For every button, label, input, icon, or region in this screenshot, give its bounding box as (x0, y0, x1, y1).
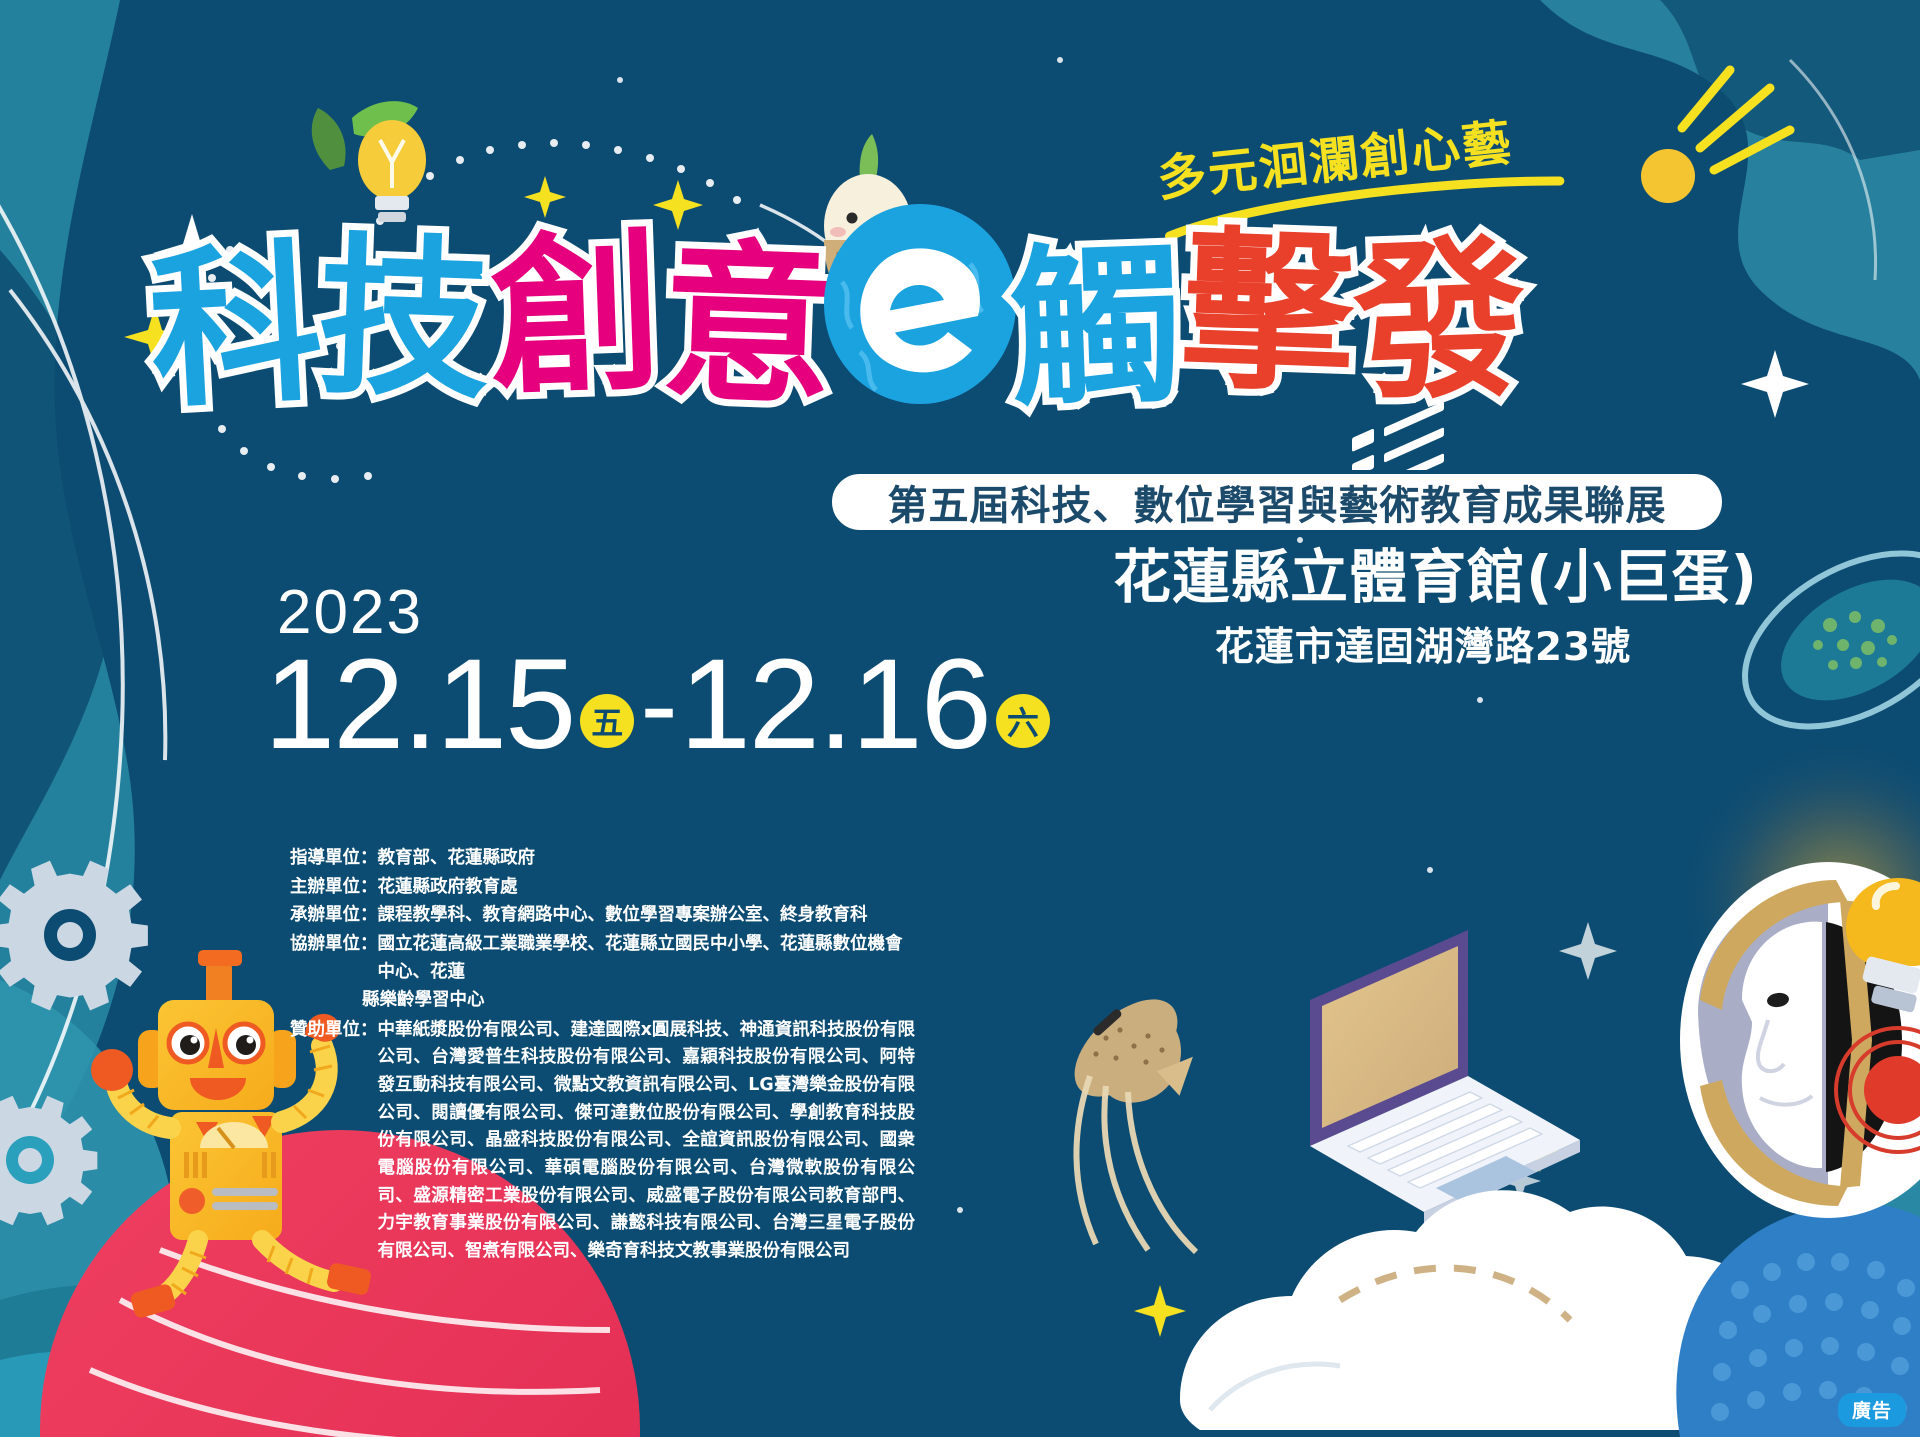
venue-address: 花蓮市達固湖灣路23號 (1113, 616, 1733, 672)
date-end-day-badge: 六 (996, 694, 1050, 748)
venue-name: 花蓮縣立體育館(小巨蛋) (1113, 545, 1733, 610)
subtitle-banner: 第五屆科技、數位學習與藝術教育成果聯展 (828, 470, 1726, 534)
organizer-row-continuation: 縣樂齡學習中心 (290, 987, 915, 1015)
date-end: 12.16 (680, 645, 990, 764)
title-char-7: 發 (1351, 233, 1529, 411)
organizer-value: 教育部、花蓮縣政府 (378, 845, 916, 873)
sponsors-value: 中華紙漿股份有限公司、建達國際x圓展科技、神通資訊科技股份有限公司、台灣愛普生科… (378, 1017, 916, 1266)
poster-canvas: 多元洄瀾創心藝 科 技 創 意 觸 擊 發 第五屆科技、數位學 (0, 0, 1920, 1437)
organizer-value: 課程教學科、教育網路中心、數位學習專案辦公室、終身教育科 (378, 902, 916, 930)
venue-block: 花蓮縣立體育館(小巨蛋) 花蓮市達固湖灣路23號 (1113, 545, 1733, 672)
date-dash: - (638, 646, 679, 764)
organizers-block: 指導單位： 教育部、花蓮縣政府 主辦單位： 花蓮縣政府教育處 承辦單位： 課程教… (290, 845, 915, 1267)
organizer-label: 主辦單位： (290, 874, 378, 902)
date-start-day-badge: 五 (580, 694, 634, 748)
organizer-row: 承辦單位： 課程教學科、教育網路中心、數位學習專案辦公室、終身教育科 (290, 902, 915, 930)
title-char-1: 科 (146, 238, 327, 419)
title-char-2: 技 (315, 231, 493, 409)
title-char-6: 擊 (1179, 225, 1357, 403)
ad-badge[interactable]: 廣告 (1838, 1393, 1906, 1427)
organizer-row: 協辦單位： 國立花蓮高級工業職業學校、花蓮縣立國民中小學、花蓮縣數位機會中心、花… (290, 931, 915, 986)
organizer-label: 指導單位： (290, 845, 378, 873)
sponsors-row: 贊助單位： 中華紙漿股份有限公司、建達國際x圓展科技、神通資訊科技股份有限公司、… (290, 1017, 915, 1266)
astronaut-icon (1676, 740, 1920, 1437)
organizer-label: 承辦單位： (290, 902, 378, 930)
date-start: 12.15 (264, 645, 574, 764)
organizer-value: 縣樂齡學習中心 (362, 987, 915, 1015)
organizer-label: 協辦單位： (290, 931, 378, 986)
subtitle-text: 第五屆科技、數位學習與藝術教育成果聯展 (888, 473, 1667, 531)
event-date-range: 12.15 五 - 12.16 六 (264, 645, 1054, 764)
main-title: 科 技 創 意 觸 擊 發 (150, 190, 1650, 410)
organizer-value: 花蓮縣政府教育處 (378, 874, 916, 902)
title-char-3: 創 (487, 227, 665, 405)
title-char-5: 觸 (1007, 239, 1185, 417)
organizer-row: 指導單位： 教育部、花蓮縣政府 (290, 845, 915, 873)
organizer-row: 主辦單位： 花蓮縣政府教育處 (290, 874, 915, 902)
e-logo (820, 204, 1020, 404)
title-char-4: 意 (659, 237, 837, 415)
sponsors-label: 贊助單位： (290, 1017, 378, 1266)
organizer-value: 國立花蓮高級工業職業學校、花蓮縣立國民中小學、花蓮縣數位機會中心、花蓮 (378, 931, 916, 986)
